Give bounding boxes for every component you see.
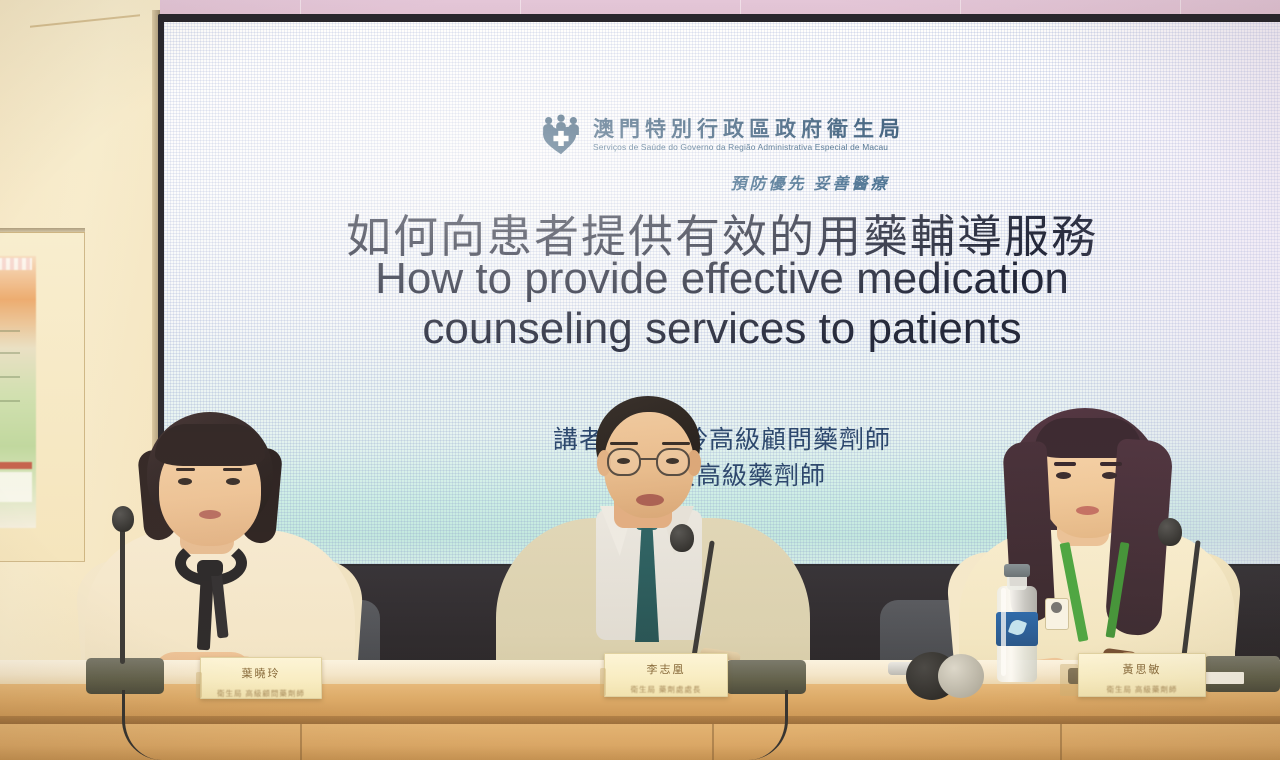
table-front-panel [0, 724, 1280, 760]
bottle-cap [1004, 564, 1030, 577]
nameplate-center-name: 李志凰 [605, 661, 727, 677]
nameplate-left-role: 衛生局 高級顧問藥劑師 [201, 688, 321, 699]
poster-red-bar [0, 462, 32, 469]
nameplate-center: 李志凰 衛生局 藥劑處處長 [604, 653, 728, 697]
microphone-head-center [670, 524, 694, 552]
slide-title-en-line2: counseling services to patients [422, 304, 1021, 353]
panelist-center-mouth [636, 494, 664, 506]
organization-header: 澳門特別行政區政府衛生局 Serviços de Saúde do Govern… [164, 114, 1280, 156]
microphone-stem-left [120, 524, 125, 664]
microphone-head-right [1158, 518, 1182, 546]
slide-title-en: How to provide effective medication coun… [164, 254, 1280, 354]
org-name-cn: 澳門特別行政區政府衛生局 [593, 119, 905, 140]
nameplate-left-name: 葉曉玲 [201, 665, 321, 681]
nameplate-right: 黃思敏 衛生局 高級藥劑師 [1078, 653, 1206, 697]
org-name-pt: Serviços de Saúde do Governo da Região A… [593, 143, 905, 151]
microphone-head-left [112, 506, 134, 532]
slide-title-en-line1: How to provide effective medication [375, 254, 1069, 303]
microphone-base-left [86, 658, 164, 694]
nameplate-center-role: 衛生局 藥劑處處長 [605, 684, 727, 695]
org-slogan: 預防優先 妥善醫療 [252, 170, 1280, 194]
poster-header-pattern [0, 258, 32, 270]
nameplate-right-role: 衛生局 高級藥劑師 [1079, 684, 1205, 695]
microphone-base-center [726, 660, 806, 694]
photo-scene: 澳門特別行政區政府衛生局 Serviços de Saúde do Govern… [0, 0, 1280, 760]
nameplate-right-name: 黃思敏 [1079, 661, 1205, 677]
handheld-microphone-grey [938, 654, 984, 698]
nameplate-left: 葉曉玲 衛生局 高級顧問藥劑師 [200, 657, 322, 699]
poster-white-block [0, 472, 32, 502]
macau-health-bureau-logo [539, 114, 583, 156]
